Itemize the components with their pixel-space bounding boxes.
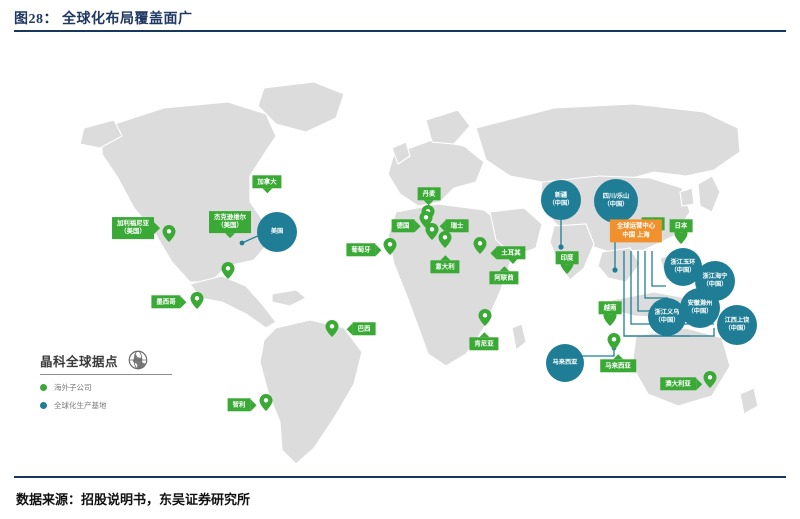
legend-title: 晶科全球据点: [40, 351, 118, 370]
page-title: 图28： 全球化布局覆盖面广: [14, 8, 786, 28]
label-chile[interactable]: 智利: [228, 398, 251, 411]
label-denmark[interactable]: 丹麦: [418, 187, 441, 200]
pin-switzerland[interactable]: [420, 211, 433, 228]
label-switzerland[interactable]: 瑞士: [446, 219, 469, 232]
bubble-xinjiang-china[interactable]: 新疆（中国）: [541, 180, 581, 220]
legend-item-production-base: 全球化生产基地: [40, 400, 180, 411]
legend-dot-green: [40, 384, 47, 391]
pin-kenya[interactable]: [479, 309, 492, 326]
bubble-zhejiang-yiwu-china[interactable]: 浙江义乌（中国）: [648, 298, 686, 336]
label-australia[interactable]: 澳大利亚: [660, 377, 696, 390]
world-map: 加拿大 加利福尼亚（美国） 杰克逊维尔（美国） 墨西哥 巴西 智利 葡萄牙 德国…: [14, 36, 786, 472]
legend-dot-teal: [40, 402, 47, 409]
pin-jacksonville-usa[interactable]: [222, 262, 235, 279]
pin-brazil[interactable]: [326, 320, 339, 337]
label-canada[interactable]: 加拿大: [252, 175, 281, 188]
pin-chile[interactable]: [260, 394, 273, 411]
figure-source: 数据来源：招股说明书，东吴证券研究所: [16, 489, 250, 508]
legend-label-subsidiary: 海外子公司: [54, 382, 92, 393]
label-kenya[interactable]: 肯尼亚: [469, 337, 498, 350]
label-portugal[interactable]: 葡萄牙: [346, 243, 375, 256]
global-operation-center-badge[interactable]: 全球运营中心 中国 上海: [610, 219, 662, 242]
bubble-usa[interactable]: 美国: [257, 212, 297, 252]
pin-australia[interactable]: [704, 371, 717, 388]
legend: 晶科全球据点 海外子公司 全球化生产基地: [40, 350, 180, 411]
pin-portugal[interactable]: [384, 238, 397, 255]
label-vietnam[interactable]: 越南: [599, 301, 622, 314]
hq-line2: 中国 上海: [622, 231, 649, 238]
footer-divider: [14, 476, 786, 478]
pin-italy[interactable]: [439, 231, 452, 248]
legend-divider: [40, 374, 172, 375]
label-japan[interactable]: 日本: [670, 219, 693, 232]
label-malaysia[interactable]: 马来西亚: [600, 359, 636, 372]
bubble-sichuan-leshan-china[interactable]: 四川/乐山（中国）: [594, 179, 638, 223]
pin-mexico[interactable]: [191, 292, 204, 309]
label-turkey[interactable]: 土耳其: [496, 246, 525, 259]
legend-header: 晶科全球据点: [40, 350, 180, 370]
label-mexico[interactable]: 墨西哥: [151, 295, 180, 308]
globe-icon: [128, 350, 148, 370]
bubble-malaysia-plant[interactable]: 马来西亚: [546, 344, 584, 382]
pin-turkey[interactable]: [474, 237, 487, 254]
label-germany[interactable]: 德国: [392, 219, 415, 232]
label-italy[interactable]: 意大利: [430, 260, 459, 273]
label-jacksonville-usa[interactable]: 杰克逊维尔（美国）: [209, 211, 251, 233]
label-brazil[interactable]: 巴西: [353, 322, 376, 335]
label-uae[interactable]: 阿联酋: [489, 271, 518, 284]
label-california-usa[interactable]: 加利福尼亚（美国）: [112, 217, 154, 239]
figure-page: 图28： 全球化布局覆盖面广: [0, 0, 800, 519]
bubble-jiangxi-shangrao-china[interactable]: 江西上饶（中国）: [717, 305, 757, 345]
pin-malaysia[interactable]: [608, 333, 621, 350]
pin-california-usa[interactable]: [163, 225, 176, 242]
legend-label-production-base: 全球化生产基地: [54, 400, 107, 411]
header-divider: [14, 30, 786, 32]
legend-item-subsidiary: 海外子公司: [40, 382, 180, 393]
label-india[interactable]: 印度: [556, 251, 579, 264]
hq-line1: 全球运营中心: [617, 222, 655, 229]
bubble-zhejiang-haining-china[interactable]: 浙江海宁（中国）: [695, 261, 735, 301]
